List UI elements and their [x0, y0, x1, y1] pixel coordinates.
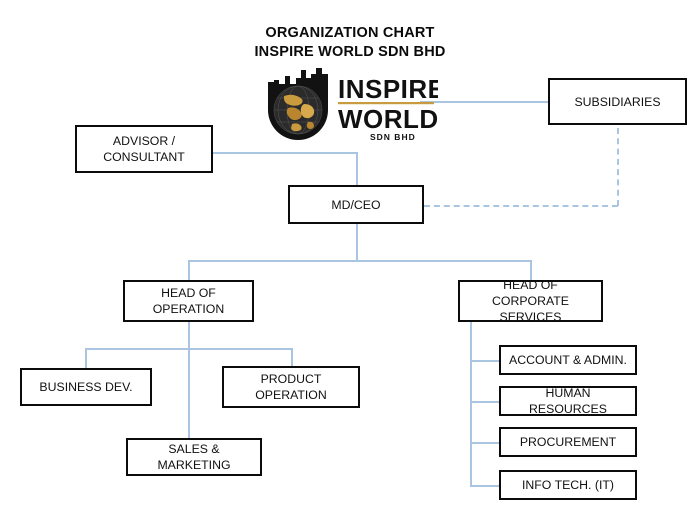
node-account-admin-label: ACCOUNT & ADMIN. — [505, 352, 631, 368]
connector-stub-procurement — [470, 442, 500, 444]
node-account-admin[interactable]: ACCOUNT & ADMIN. — [499, 345, 637, 375]
connector-mdceo-drop — [356, 224, 358, 262]
connector-heads-span — [188, 260, 532, 262]
logo-word-world: WORLD — [338, 104, 438, 134]
connector-operation-spine — [188, 322, 190, 438]
node-procurement-label: PROCUREMENT — [516, 434, 620, 450]
node-procurement[interactable]: PROCUREMENT — [499, 427, 637, 457]
node-info-tech[interactable]: INFO TECH. (IT) — [499, 470, 637, 500]
node-head-of-operation-label: HEAD OF OPERATION — [149, 285, 229, 317]
connector-drop-product-operation — [291, 348, 293, 368]
connector-corporate-spine — [470, 322, 472, 486]
connector-drop-business-dev — [85, 348, 87, 368]
connector-stub-human-resources — [470, 401, 500, 403]
connector-stub-account-admin — [470, 360, 500, 362]
node-head-of-operation[interactable]: HEAD OF OPERATION — [123, 280, 254, 322]
logo-word-inspire: INSPIRE — [338, 74, 438, 104]
node-human-resources-label: HUMAN RESOURCES — [501, 385, 635, 417]
node-product-operation[interactable]: PRODUCT OPERATION — [222, 366, 360, 408]
node-business-dev[interactable]: BUSINESS DEV. — [20, 368, 152, 406]
connector-logo-to-subsidiaries — [420, 101, 548, 103]
connector-advisor-to-mdceo-vertical — [356, 152, 358, 185]
node-info-tech-label: INFO TECH. (IT) — [518, 477, 618, 493]
logo-tagline: SDN BHD — [370, 132, 416, 142]
node-sales-marketing-label: SALES & MARKETING — [128, 441, 260, 473]
node-advisor-consultant[interactable]: ADVISOR / CONSULTANT — [75, 125, 213, 173]
title-line-1: ORGANIZATION CHART — [0, 24, 700, 43]
node-advisor-consultant-label: ADVISOR / CONSULTANT — [99, 133, 189, 165]
node-subsidiaries-label: SUBSIDIARIES — [570, 94, 664, 110]
node-head-of-corporate-services[interactable]: HEAD OF CORPORATE SERVICES — [458, 280, 603, 322]
node-human-resources[interactable]: HUMAN RESOURCES — [499, 386, 637, 416]
node-product-operation-label: PRODUCT OPERATION — [251, 371, 331, 403]
connector-advisor-horizontal — [213, 152, 358, 154]
connector-operation-branch-bar — [85, 348, 293, 350]
node-sales-marketing[interactable]: SALES & MARKETING — [126, 438, 262, 476]
node-md-ceo-label: MD/CEO — [327, 197, 384, 213]
connector-subsidiaries-dashed-vertical — [617, 128, 619, 206]
logo-globe-icon — [274, 86, 322, 134]
connector-stub-info-tech — [470, 485, 500, 487]
organization-chart: ORGANIZATION CHART INSPIRE WORLD SDN BHD — [0, 0, 700, 520]
node-head-of-corporate-services-label: HEAD OF CORPORATE SERVICES — [460, 277, 601, 325]
title-line-2: INSPIRE WORLD SDN BHD — [0, 43, 700, 62]
node-business-dev-label: BUSINESS DEV. — [35, 379, 136, 395]
node-md-ceo[interactable]: MD/CEO — [288, 185, 424, 224]
inspire-world-logo: INSPIRE WORLD SDN BHD — [266, 66, 438, 146]
page-title: ORGANIZATION CHART INSPIRE WORLD SDN BHD — [0, 24, 700, 62]
node-subsidiaries[interactable]: SUBSIDIARIES — [548, 78, 687, 125]
connector-subsidiaries-dashed-horizontal — [424, 205, 618, 207]
connector-drop-head-operation — [188, 260, 190, 280]
